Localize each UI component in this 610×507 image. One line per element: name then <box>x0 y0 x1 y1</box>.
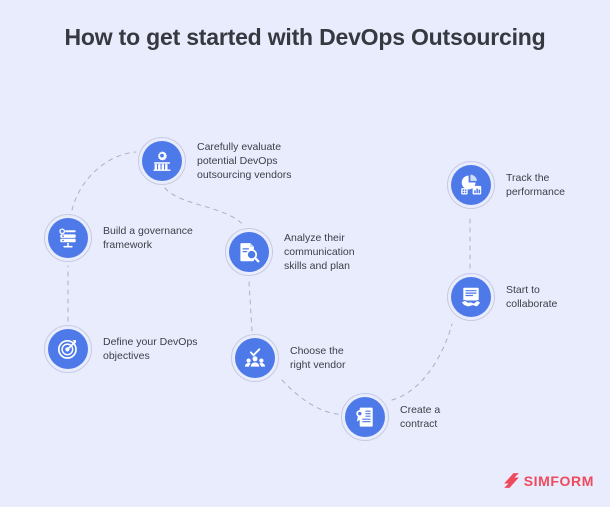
step-label: Analyze their communication skills and p… <box>284 231 355 273</box>
step-label: Create a contract <box>400 403 440 431</box>
server-monitor-icon <box>48 218 88 258</box>
step-node-ring <box>447 161 495 209</box>
team-gear-icon <box>142 141 182 181</box>
step-label: Choose the right vendor <box>290 344 345 372</box>
step-governance-framework[interactable]: Build a governance framework <box>44 214 193 262</box>
step-node-ring <box>341 393 389 441</box>
connector-governance-to-evaluate <box>72 152 136 210</box>
step-node-ring <box>44 325 92 373</box>
contract-seal-icon <box>345 397 385 437</box>
step-track-performance[interactable]: Track the performance <box>447 161 565 209</box>
step-node-ring <box>44 214 92 262</box>
step-label: Start to collaborate <box>506 283 557 311</box>
connector-choose-to-contract <box>282 380 345 414</box>
step-analyze-communication[interactable]: Analyze their communication skills and p… <box>225 228 355 276</box>
step-create-contract[interactable]: Create a contract <box>341 393 440 441</box>
step-label: Track the performance <box>506 171 565 199</box>
step-evaluate-vendors[interactable]: Carefully evaluate potential DevOps outs… <box>138 137 292 185</box>
connector-contract-to-collaborate <box>392 324 452 400</box>
step-node-ring <box>231 334 279 382</box>
connector-analyze-to-choose <box>249 282 252 331</box>
step-choose-vendor[interactable]: Choose the right vendor <box>231 334 345 382</box>
page-title: How to get started with DevOps Outsourci… <box>0 24 610 51</box>
document-search-icon <box>229 232 269 272</box>
step-label: Carefully evaluate potential DevOps outs… <box>197 140 292 182</box>
step-label: Define your DevOps objectives <box>103 335 198 363</box>
step-node-ring <box>138 137 186 185</box>
analytics-chart-icon <box>451 165 491 205</box>
team-check-icon <box>235 338 275 378</box>
handshake-document-icon <box>451 277 491 317</box>
step-start-collaborate[interactable]: Start to collaborate <box>447 273 557 321</box>
infographic-canvas: How to get started with DevOps Outsourci… <box>0 0 610 507</box>
target-dart-icon <box>48 329 88 369</box>
simform-logo-text: SIMFORM <box>524 473 594 489</box>
simform-logo[interactable]: SIMFORM <box>503 472 594 489</box>
simform-s-mark-icon <box>503 472 520 489</box>
step-node-ring <box>225 228 273 276</box>
step-devops-objectives[interactable]: Define your DevOps objectives <box>44 325 198 373</box>
step-label: Build a governance framework <box>103 224 193 252</box>
step-node-ring <box>447 273 495 321</box>
